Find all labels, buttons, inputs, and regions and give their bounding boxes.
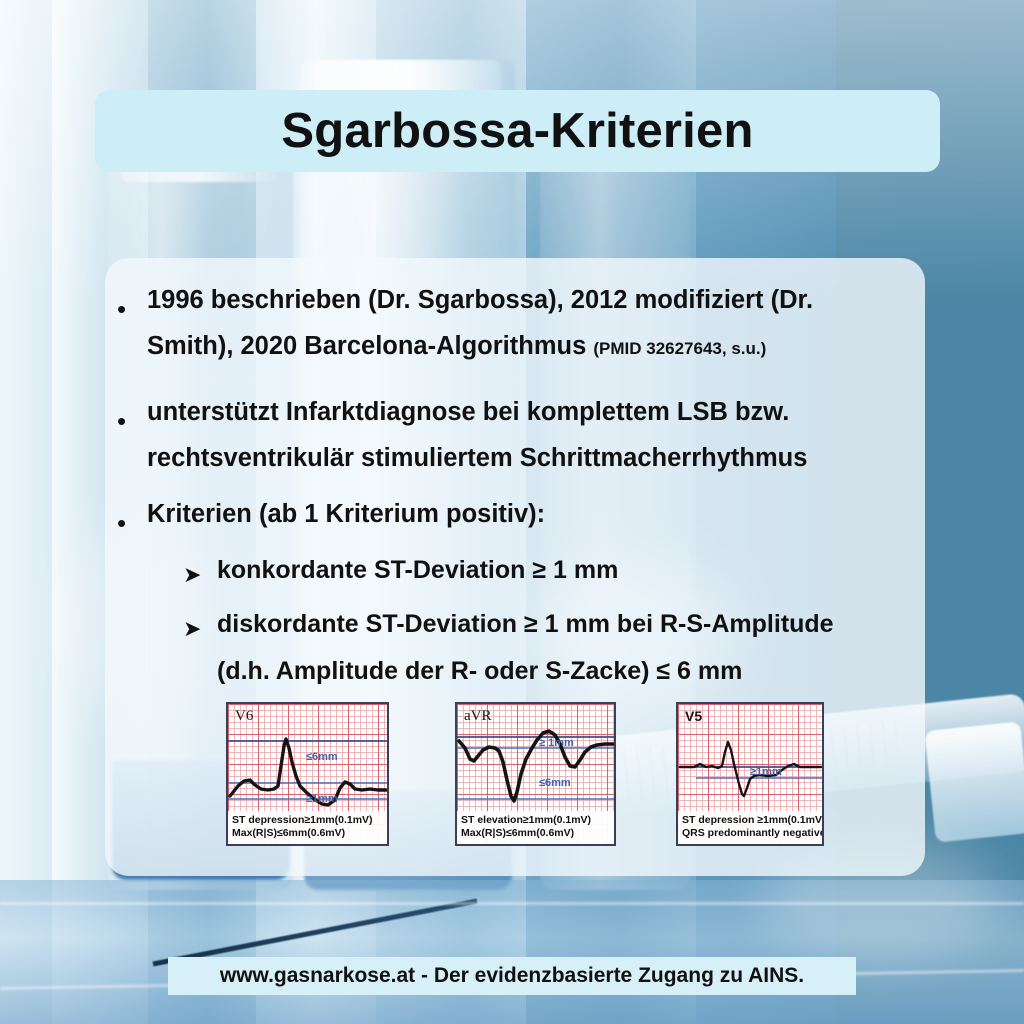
ecg-caption-line: Max(R|S)≤6mm(0.6mV)	[232, 827, 383, 840]
sub-bullet-text: konkordante ST-Deviation ≥ 1 mm	[217, 558, 907, 588]
sub-bullet-line: (d.h. Amplitude der R- oder S-Zacke) ≤ 6…	[217, 659, 913, 684]
sub-bullet-text: diskordante ST-Deviation ≥ 1 mm bei R-S-…	[217, 612, 913, 684]
bullet-line: Kriterien (ab 1 Kriterium positiv):	[147, 502, 887, 528]
slide-title-bar: Sgarbossa-Kriterien	[95, 90, 940, 172]
ecg-lead-label-v6: V6	[235, 708, 253, 725]
arrow-right-icon: ➤	[183, 612, 217, 684]
ecg-marker-lower-avr: ≤6mm	[539, 777, 571, 789]
bullet-marker: •	[117, 288, 147, 359]
syringe-plunger-graphic	[924, 721, 1024, 842]
bullet-item: • Kriterien (ab 1 Kriterium positiv):	[117, 502, 917, 536]
ecg-caption-v5: ST depression ≥1mm(0.1mV) QRS predominan…	[678, 811, 822, 844]
ecg-marker-lower-v6: ≥1mm	[306, 793, 338, 805]
ecg-lead-label-v5: V5	[685, 708, 702, 724]
ecg-panel-v5: ≥1mm V5 ST depression ≥1mm(0.1mV) QRS pr…	[676, 702, 824, 846]
bullet-marker: •	[117, 400, 147, 471]
bullet-item: • 1996 beschrieben (Dr. Sgarbossa), 2012…	[117, 288, 917, 359]
ecg-caption-line: Max(R|S)≤6mm(0.6mV)	[461, 827, 610, 840]
sub-bullet-line: diskordante ST-Deviation ≥ 1 mm bei R-S-…	[217, 612, 913, 637]
footer-text: www.gasnarkose.at - Der evidenzbasierte …	[220, 964, 804, 988]
footer-bar: www.gasnarkose.at - Der evidenzbasierte …	[168, 957, 856, 995]
sub-bullet-item: ➤ diskordante ST-Deviation ≥ 1 mm bei R-…	[183, 612, 913, 684]
bullet-line: 1996 beschrieben (Dr. Sgarbossa), 2012 m…	[147, 288, 907, 314]
bullet-note: (PMID 32627643, s.u.)	[593, 339, 766, 358]
ecg-marker-upper-v5: ≥1mm	[750, 766, 782, 778]
ecg-caption-v6: ST depression≥1mm(0.1mV) Max(R|S)≤6mm(0.…	[228, 811, 387, 844]
bullet-line-text: Smith), 2020 Barcelona-Algorithmus	[147, 332, 586, 360]
sub-bullet-line: konkordante ST-Deviation ≥ 1 mm	[217, 558, 907, 583]
ecg-caption-line: ST elevation≥1mm(0.1mV)	[461, 814, 610, 827]
ecg-caption-line: ST depression≥1mm(0.1mV)	[232, 814, 383, 827]
bullet-text: Kriterien (ab 1 Kriterium positiv):	[147, 502, 887, 536]
sub-bullet-item: ➤ konkordante ST-Deviation ≥ 1 mm	[183, 558, 913, 588]
bullet-line: rechtsventrikulär stimuliertem Schrittma…	[147, 446, 917, 472]
ecg-caption-line: ST depression ≥1mm(0.1mV)	[682, 814, 818, 827]
bullet-item: • unterstützt Infarktdiagnose bei komple…	[117, 400, 917, 471]
bullet-text: 1996 beschrieben (Dr. Sgarbossa), 2012 m…	[147, 288, 907, 359]
ecg-panel-avr: ≥ 1mm ≤6mm aVR ST elevation≥1mm(0.1mV) M…	[455, 702, 616, 846]
bullet-marker: •	[117, 502, 147, 536]
bullet-line: unterstützt Infarktdiagnose bei komplett…	[147, 400, 917, 426]
bullet-line: Smith), 2020 Barcelona-Algorithmus (PMID…	[147, 334, 907, 360]
ecg-panel-v6: ≤6mm ≥1mm V6 ST depression≥1mm(0.1mV) Ma…	[226, 702, 389, 846]
arrow-right-icon: ➤	[183, 558, 217, 588]
slide-root: Sgarbossa-Kriterien • 1996 beschrieben (…	[0, 0, 1024, 1024]
bullet-text: unterstützt Infarktdiagnose bei komplett…	[147, 400, 917, 471]
ecg-caption-line: QRS predominantly negative	[682, 827, 818, 840]
ecg-marker-upper-avr: ≥ 1mm	[539, 737, 574, 749]
slide-title: Sgarbossa-Kriterien	[281, 103, 753, 159]
ecg-lead-label-avr: aVR	[464, 708, 492, 725]
ecg-marker-upper-v6: ≤6mm	[306, 751, 338, 763]
ecg-caption-avr: ST elevation≥1mm(0.1mV) Max(R|S)≤6mm(0.6…	[457, 811, 614, 844]
